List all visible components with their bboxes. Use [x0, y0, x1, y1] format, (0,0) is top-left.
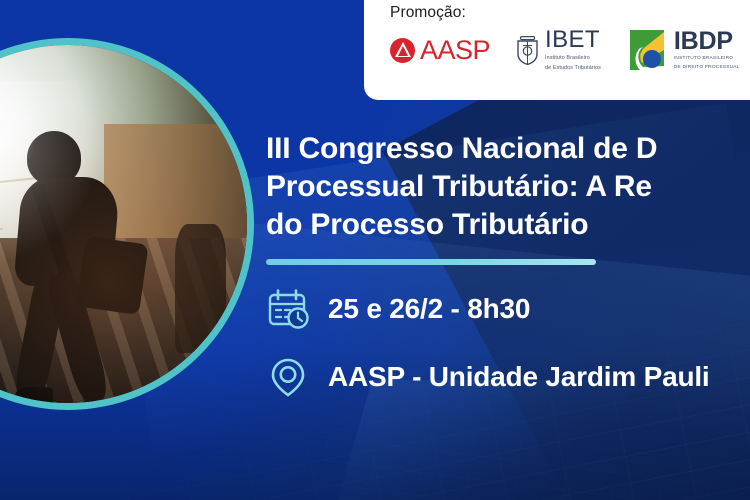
ibet-subtitle-line2: de Estudos Tributários — [545, 65, 601, 72]
sponsor-logo-ibet[interactable]: IBET Instituto Brasileiro de Estudos Tri… — [516, 28, 601, 73]
photo-figure-shoe — [15, 387, 53, 403]
calendar-clock-icon — [266, 287, 310, 331]
aasp-seal-icon — [390, 38, 415, 63]
map-pin-icon — [266, 355, 310, 399]
event-content: III Congresso Nacional de D Processual T… — [266, 130, 750, 399]
ibdp-flag-icon — [627, 28, 667, 72]
event-title: III Congresso Nacional de D Processual T… — [266, 130, 750, 243]
event-title-line-2: Processual Tributário: A Re — [266, 168, 750, 206]
photo-main-figure — [18, 131, 176, 403]
ibet-subtitle-line1: Instituto Brasileiro — [545, 55, 601, 62]
photo-pedestrian-right — [175, 224, 225, 353]
sponsor-logo-aasp[interactable]: AASP — [390, 37, 490, 64]
event-title-line-1: III Congresso Nacional de D — [266, 130, 750, 168]
promo-label: Promoção: — [390, 4, 750, 22]
ibdp-subtitle-line2: DE DIREITO PROCESSUAL — [674, 65, 740, 72]
event-date-text: 25 e 26/2 - 8h30 — [328, 293, 530, 325]
aasp-wordmark: AASP — [420, 37, 490, 64]
photo-ring — [0, 38, 254, 410]
ibdp-text-block: IBDP INSTITUTO BRASILEIRO DE DIREITO PRO… — [674, 29, 740, 71]
event-banner: Promoção: AASP IBET Instituto Brasileiro… — [0, 0, 750, 500]
event-title-line-3: do Processo Tributário — [266, 206, 750, 244]
title-divider — [266, 259, 596, 265]
ibet-text-block: IBET Instituto Brasileiro de Estudos Tri… — [545, 28, 601, 73]
event-location-row: AASP - Unidade Jardim Pauli — [266, 355, 750, 399]
businessman-walking-photo — [0, 45, 247, 403]
sponsor-logo-row: AASP IBET Instituto Brasileiro de Estudo… — [390, 28, 750, 73]
event-location-text: AASP - Unidade Jardim Pauli — [328, 361, 710, 393]
sponsor-card: Promoção: AASP IBET Instituto Brasileiro… — [364, 0, 750, 100]
sponsor-logo-ibdp[interactable]: IBDP INSTITUTO BRASILEIRO DE DIREITO PRO… — [627, 28, 740, 72]
ibdp-subtitle-line1: INSTITUTO BRASILEIRO — [674, 56, 740, 63]
ibet-shield-icon — [516, 35, 539, 65]
ibdp-wordmark: IBDP — [674, 29, 740, 54]
event-date-row: 25 e 26/2 - 8h30 — [266, 287, 750, 331]
ibet-wordmark: IBET — [545, 28, 601, 52]
photo-figure-bag — [76, 236, 148, 315]
